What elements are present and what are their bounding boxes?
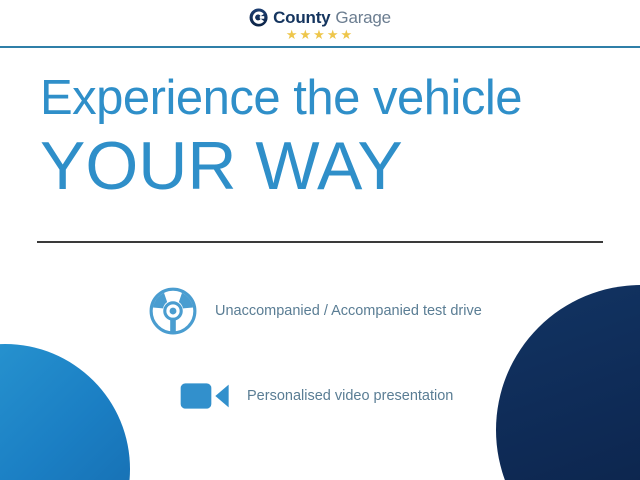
brand-name-light: Garage [335, 8, 391, 27]
brand-logo[interactable]: County Garage ★★★★★ [249, 7, 391, 41]
video-camera-icon [180, 379, 232, 413]
feature-item-test-drive: Unaccompanied / Accompanied test drive [148, 283, 640, 339]
star-rating: ★★★★★ [249, 28, 391, 41]
feature-list: Unaccompanied / Accompanied test drive P… [0, 283, 640, 424]
headline-line-2: YOUR WAY [40, 128, 640, 204]
headline-block: Experience the vehicle YOUR WAY [0, 68, 640, 204]
promo-slide: County Garage ★★★★★ Experience the vehic… [0, 0, 640, 480]
county-circle-mark-icon [249, 8, 268, 27]
feature-label-test-drive: Unaccompanied / Accompanied test drive [215, 303, 482, 319]
steering-wheel-icon [148, 286, 198, 336]
headline-line-1: Experience the vehicle [40, 68, 640, 128]
feature-item-video-presentation: Personalised video presentation [180, 368, 640, 424]
brand-logo-row: County Garage [249, 7, 391, 27]
header: County Garage ★★★★★ [0, 0, 640, 48]
feature-label-video-presentation: Personalised video presentation [247, 388, 453, 404]
section-divider [37, 241, 603, 243]
brand-name-bold: County [273, 8, 330, 27]
header-accent-rule [0, 46, 640, 48]
